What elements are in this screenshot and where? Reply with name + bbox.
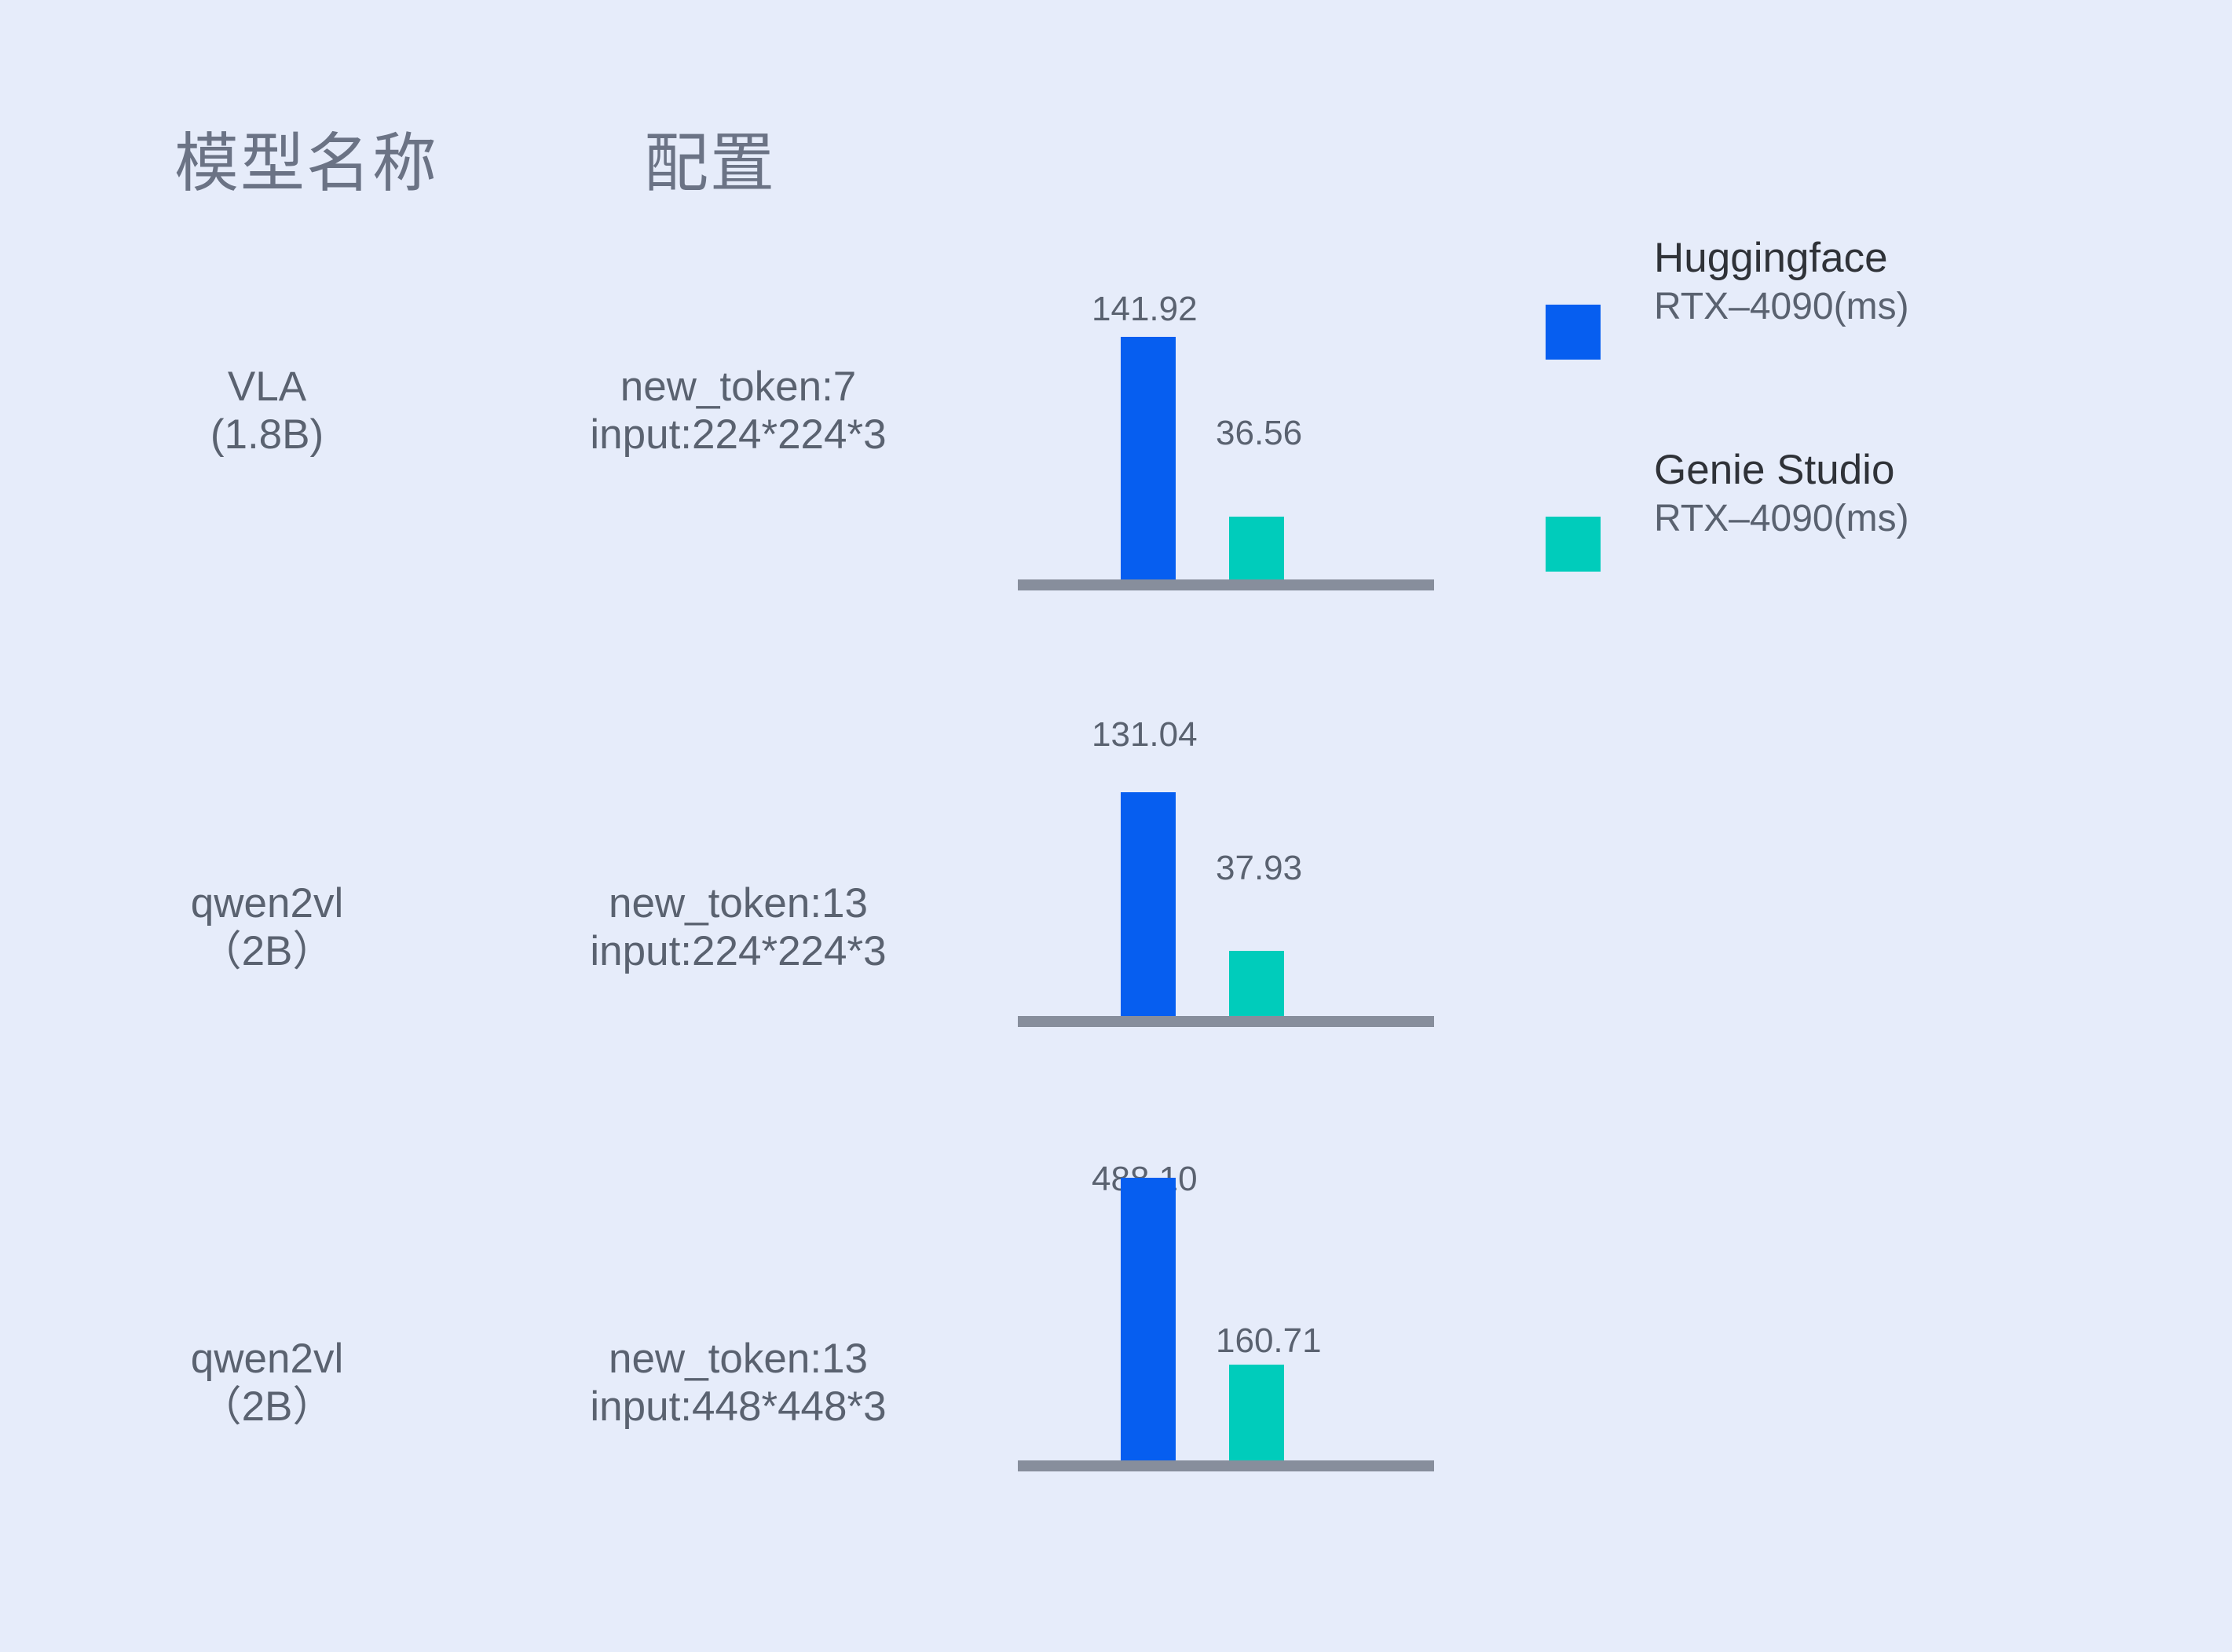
row-config-line2: input:448*448*3: [471, 1383, 1005, 1431]
row-model-name: qwen2vl （2B）: [134, 1335, 401, 1431]
legend-subtitle-huggingface: RTX–4090(ms): [1654, 287, 1909, 327]
row-model-line1: qwen2vl: [191, 1336, 343, 1382]
bar-value-label-huggingface: 141.92: [1092, 292, 1198, 327]
huggingface-swatch-icon: [1546, 305, 1601, 360]
bar-genie-studio[interactable]: [1229, 517, 1284, 579]
genie-studio-swatch-icon: [1546, 517, 1601, 572]
row-config-line2: input:224*224*3: [471, 927, 1005, 975]
row-config: new_token:7 input:224*224*3: [471, 363, 1005, 459]
bar-huggingface[interactable]: [1121, 792, 1176, 1016]
row-model-name: VLA (1.8B): [134, 363, 401, 459]
row-config-line1: new_token:7: [620, 364, 857, 410]
row-model-name: qwen2vl （2B）: [134, 879, 401, 976]
row-baseline: [1018, 579, 1434, 590]
bar-genie-studio[interactable]: [1229, 951, 1284, 1016]
bar-huggingface[interactable]: [1121, 337, 1176, 579]
column-header-config: 配置: [644, 132, 776, 196]
legend-title-genie-studio: Genie Studio: [1654, 448, 1909, 492]
bar-value-label-genie-studio: 37.93: [1216, 851, 1302, 886]
row-plot: 141.92 36.56: [1018, 259, 1434, 590]
chart-legend: Huggingface RTX–4090(ms) Genie Studio RT…: [1546, 236, 2190, 660]
row-baseline: [1018, 1016, 1434, 1027]
bar-value-label-genie-studio: 160.71: [1216, 1324, 1322, 1358]
row-config-line1: new_token:13: [609, 1336, 868, 1382]
legend-text-huggingface: Huggingface RTX–4090(ms): [1654, 236, 1909, 327]
legend-text-genie-studio: Genie Studio RTX–4090(ms): [1654, 448, 1909, 539]
row-baseline: [1018, 1460, 1434, 1471]
legend-subtitle-genie-studio: RTX–4090(ms): [1654, 499, 1909, 539]
row-plot: 131.04 37.93: [1018, 685, 1434, 1027]
legend-item-huggingface[interactable]: Huggingface RTX–4090(ms): [1546, 236, 2190, 448]
row-model-line2: （2B）: [134, 927, 401, 975]
column-header-model-name: 模型名称: [174, 132, 438, 196]
row-model-line1: VLA: [228, 364, 306, 410]
bar-genie-studio[interactable]: [1229, 1365, 1284, 1460]
row-model-line1: qwen2vl: [191, 880, 343, 927]
row-config-line1: new_token:13: [609, 880, 868, 927]
row-model-line2: (1.8B): [134, 411, 401, 459]
bar-value-label-genie-studio: 36.56: [1216, 416, 1302, 451]
row-config: new_token:13 input:224*224*3: [471, 879, 1005, 976]
bar-value-label-huggingface: 131.04: [1092, 718, 1198, 752]
legend-item-genie-studio[interactable]: Genie Studio RTX–4090(ms): [1546, 448, 2190, 660]
row-config-line2: input:224*224*3: [471, 411, 1005, 459]
row-config: new_token:13 input:448*448*3: [471, 1335, 1005, 1431]
row-model-line2: （2B）: [134, 1383, 401, 1431]
bar-huggingface[interactable]: [1121, 1178, 1176, 1467]
legend-title-huggingface: Huggingface: [1654, 236, 1909, 280]
row-plot: 488.10 160.71: [1018, 1129, 1434, 1471]
